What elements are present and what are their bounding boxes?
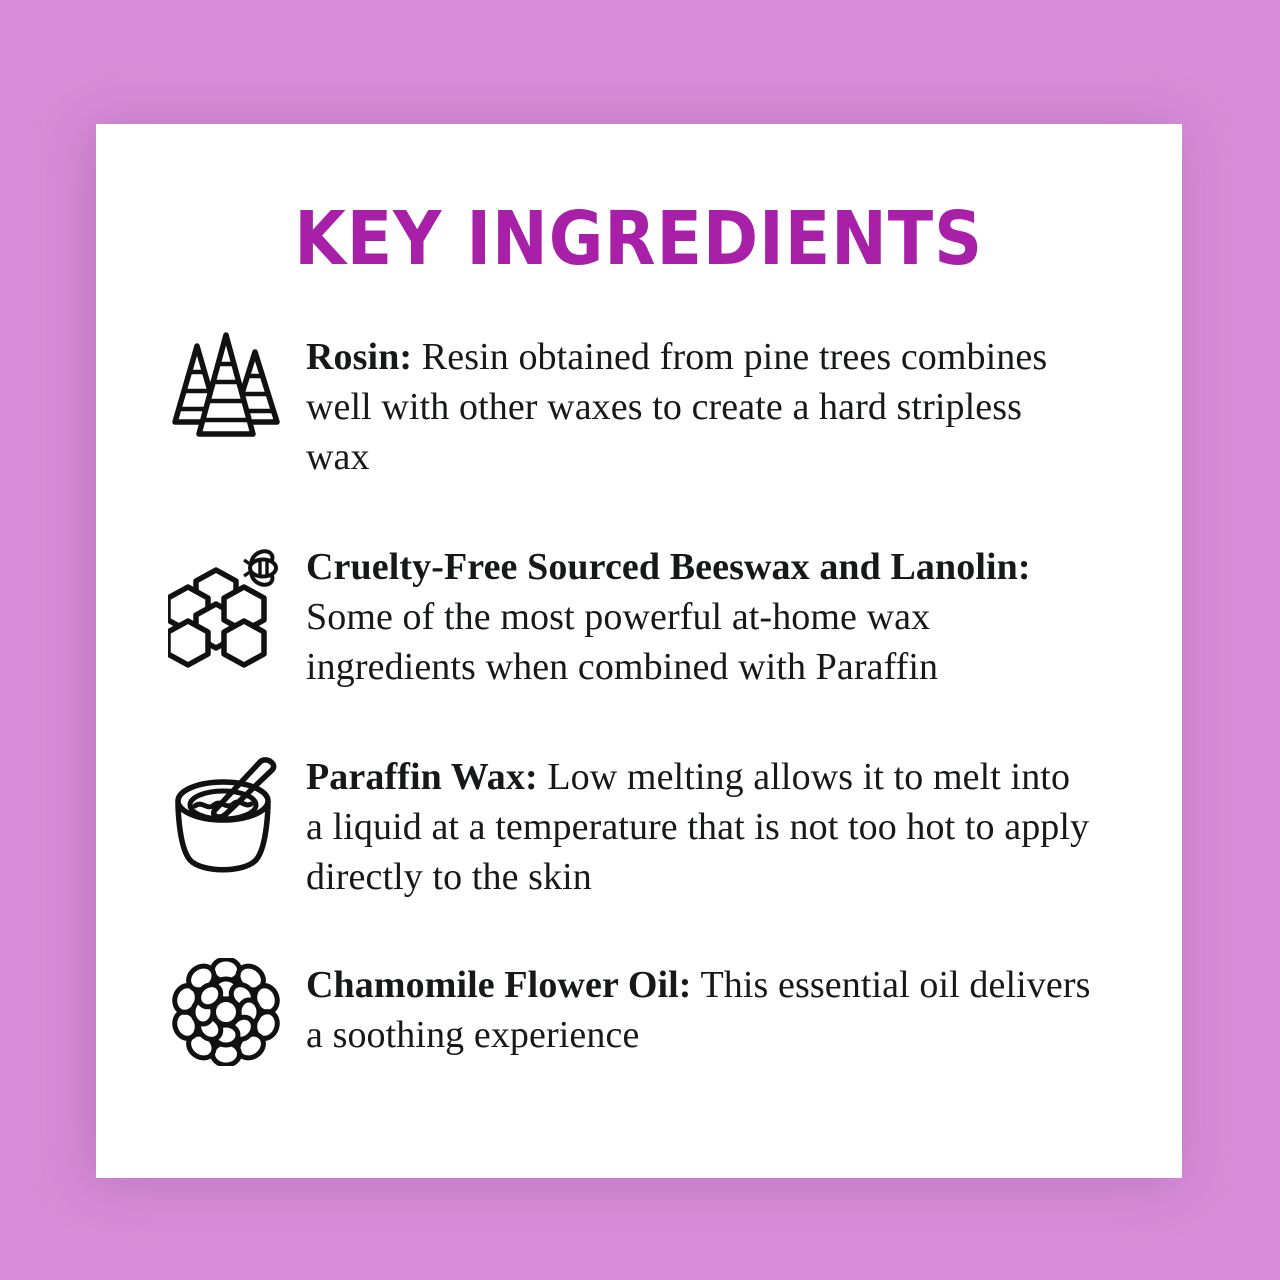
- text-cell: Cruelty-Free Sourced Beeswax and Lanolin…: [306, 540, 1094, 692]
- ingredient-description: Resin obtained from pine trees combines …: [306, 336, 1047, 478]
- text-cell: Rosin: Resin obtained from pine trees co…: [306, 330, 1094, 482]
- pine-trees-icon: [171, 330, 281, 448]
- text-cell: Paraffin Wax: Low melting allows it to m…: [306, 750, 1094, 902]
- ingredient-name: Paraffin Wax:: [306, 756, 538, 798]
- list-item: Chamomile Flower Oil: This essential oil…: [96, 958, 1182, 1066]
- icon-cell: [146, 750, 306, 876]
- ingredient-name: Rosin:: [306, 336, 412, 378]
- chamomile-flower-icon: [172, 958, 280, 1066]
- icon-cell: [146, 540, 306, 668]
- ingredient-description: Some of the most powerful at-home wax in…: [306, 596, 938, 688]
- wax-pot-spatula-icon: [168, 750, 284, 876]
- icon-cell: [146, 330, 306, 448]
- ingredient-paragraph: Chamomile Flower Oil: This essential oil…: [306, 960, 1094, 1060]
- page-title-container: KEY INGREDIENTS: [96, 202, 1182, 276]
- ingredient-name: Chamomile Flower Oil:: [306, 964, 692, 1006]
- page-title: KEY INGREDIENTS: [295, 202, 984, 276]
- list-item: Cruelty-Free Sourced Beeswax and Lanolin…: [96, 540, 1182, 692]
- list-item: Paraffin Wax: Low melting allows it to m…: [96, 750, 1182, 902]
- text-cell: Chamomile Flower Oil: This essential oil…: [306, 958, 1094, 1060]
- key-ingredients-card: KEY INGREDIENTS: [96, 124, 1182, 1178]
- ingredients-list: Rosin: Resin obtained from pine trees co…: [96, 324, 1182, 1066]
- page-background: KEY INGREDIENTS: [0, 0, 1280, 1280]
- ingredient-paragraph: Paraffin Wax: Low melting allows it to m…: [306, 752, 1094, 902]
- honeycomb-bee-icon: [168, 540, 284, 668]
- ingredient-paragraph: Cruelty-Free Sourced Beeswax and Lanolin…: [306, 542, 1094, 692]
- icon-cell: [146, 958, 306, 1066]
- ingredient-name: Cruelty-Free Sourced Beeswax and Lanolin…: [306, 546, 1031, 588]
- ingredient-paragraph: Rosin: Resin obtained from pine trees co…: [306, 332, 1094, 482]
- list-item: Rosin: Resin obtained from pine trees co…: [96, 330, 1182, 482]
